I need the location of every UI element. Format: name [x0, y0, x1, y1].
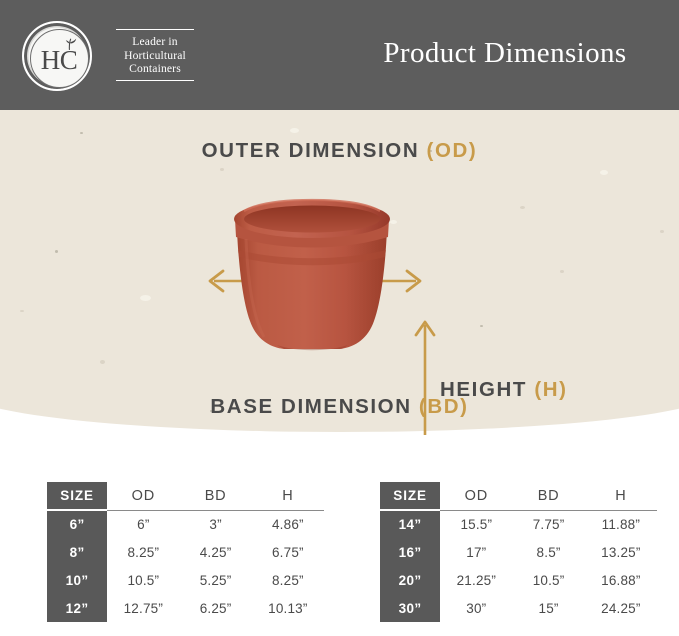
- base-dimension-label: BASE DIMENSION (BD): [0, 395, 679, 419]
- cell-h: 8.25”: [252, 566, 324, 594]
- table-row: 14” 15.5” 7.75” 11.88”: [380, 510, 657, 538]
- logo-circle: HC: [22, 21, 92, 91]
- cell-bd: 5.25”: [179, 566, 251, 594]
- cell-od: 8.25”: [107, 538, 179, 566]
- column-header-h: H: [585, 482, 657, 510]
- column-header-size: SIZE: [380, 482, 440, 510]
- cell-od: 15.5”: [440, 510, 512, 538]
- table-row: 8” 8.25” 4.25” 6.75”: [47, 538, 324, 566]
- table-row: 20” 21.25” 10.5” 16.88”: [380, 566, 657, 594]
- cell-size: 14”: [380, 510, 440, 538]
- table-header-row: SIZE OD BD H: [47, 482, 324, 510]
- large-sizes-table: SIZE OD BD H 14” 15.5” 7.75” 11.88” 16” …: [380, 482, 657, 622]
- outer-dimension-label: OUTER DIMENSION (OD): [0, 139, 679, 163]
- outer-dimension-text: OUTER DIMENSION: [202, 139, 427, 162]
- product-dimensions-infographic: HC Leader in Horticultural Containers Pr…: [0, 0, 679, 636]
- column-header-bd: BD: [512, 482, 584, 510]
- cell-h: 6.75”: [252, 538, 324, 566]
- table-row: 16” 17” 8.5” 13.25”: [380, 538, 657, 566]
- page-title: Product Dimensions: [345, 37, 665, 70]
- illustration-panel: OUTER DIMENSION (OD): [0, 110, 679, 435]
- cell-h: 10.13”: [252, 594, 324, 622]
- column-header-od: OD: [107, 482, 179, 510]
- cell-size: 30”: [380, 594, 440, 622]
- table-row: 30” 30” 15” 24.25”: [380, 594, 657, 622]
- brand-tagline: Leader in Horticultural Containers: [107, 35, 203, 76]
- cell-od: 17”: [440, 538, 512, 566]
- brand-logo-block: HC Leader in Horticultural Containers: [22, 21, 202, 93]
- cell-bd: 6.25”: [179, 594, 251, 622]
- cell-od: 30”: [440, 594, 512, 622]
- cell-h: 11.88”: [585, 510, 657, 538]
- cell-h: 16.88”: [585, 566, 657, 594]
- cell-size: 6”: [47, 510, 107, 538]
- base-dimension-text: BASE DIMENSION: [210, 395, 419, 418]
- cell-bd: 8.5”: [512, 538, 584, 566]
- small-sizes-table: SIZE OD BD H 6” 6” 3” 4.86” 8” 8.25” 4.2…: [47, 482, 324, 622]
- cell-h: 24.25”: [585, 594, 657, 622]
- tagline-rule-top: [116, 29, 194, 30]
- cell-size: 20”: [380, 566, 440, 594]
- column-header-bd: BD: [179, 482, 251, 510]
- cell-size: 12”: [47, 594, 107, 622]
- cell-bd: 15”: [512, 594, 584, 622]
- cell-od: 12.75”: [107, 594, 179, 622]
- table-row: 6” 6” 3” 4.86”: [47, 510, 324, 538]
- cell-h: 4.86”: [252, 510, 324, 538]
- column-header-h: H: [252, 482, 324, 510]
- cell-h: 13.25”: [585, 538, 657, 566]
- terracotta-planter-pot: [222, 195, 422, 375]
- cell-od: 21.25”: [440, 566, 512, 594]
- cell-bd: 3”: [179, 510, 251, 538]
- outer-dimension-abbr: (OD): [427, 139, 478, 162]
- table-row: 10” 10.5” 5.25” 8.25”: [47, 566, 324, 594]
- column-header-od: OD: [440, 482, 512, 510]
- column-header-size: SIZE: [47, 482, 107, 510]
- cell-size: 8”: [47, 538, 107, 566]
- cell-size: 16”: [380, 538, 440, 566]
- cell-bd: 7.75”: [512, 510, 584, 538]
- brand-tagline-block: Leader in Horticultural Containers: [107, 29, 203, 81]
- header-band: HC Leader in Horticultural Containers Pr…: [0, 0, 679, 110]
- cell-bd: 10.5”: [512, 566, 584, 594]
- base-dimension-abbr: (BD): [419, 395, 469, 418]
- table-header-row: SIZE OD BD H: [380, 482, 657, 510]
- table-row: 12” 12.75” 6.25” 10.13”: [47, 594, 324, 622]
- leaf-sprout-icon: [61, 37, 79, 50]
- cell-bd: 4.25”: [179, 538, 251, 566]
- cell-od: 10.5”: [107, 566, 179, 594]
- cell-size: 10”: [47, 566, 107, 594]
- cell-od: 6”: [107, 510, 179, 538]
- logo-monogram: HC: [24, 23, 94, 93]
- tagline-rule-bottom: [116, 80, 194, 81]
